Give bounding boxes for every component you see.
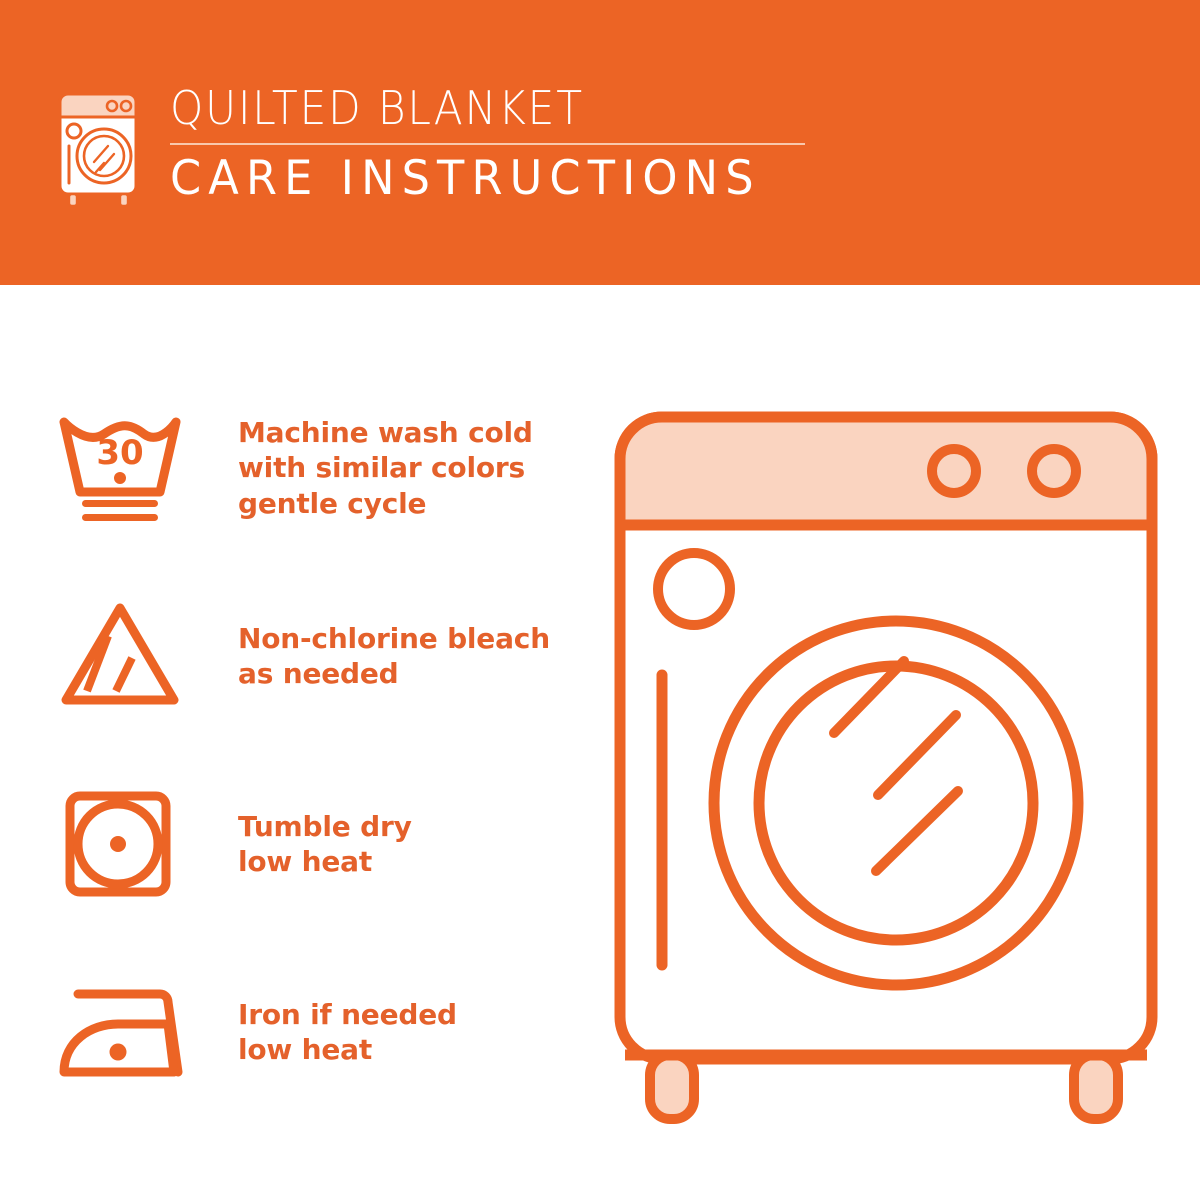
care-label-line: low heat (238, 1032, 457, 1067)
leg-right (1074, 1055, 1118, 1119)
iron-low-heat-icon (56, 972, 196, 1092)
knob-left (932, 449, 976, 493)
care-label-iron: Iron if needed low heat (238, 997, 457, 1068)
care-row-iron: Iron if needed low heat (56, 967, 576, 1097)
content-area: 30 Machine wash cold with similar colors… (0, 285, 1200, 1200)
washing-machine-illustration (606, 403, 1166, 1133)
care-label-line: Tumble dry (238, 809, 412, 844)
care-label-line: Machine wash cold (238, 415, 533, 450)
care-label-line: as needed (238, 656, 550, 691)
wash-temperature-value: 30 (96, 433, 143, 473)
header-title-block: QUILTED BLANKET CARE INSTRUCTIONS (170, 84, 805, 204)
latch-button (658, 553, 730, 625)
care-row-tumble-dry: Tumble dry low heat (56, 779, 576, 909)
care-row-wash: 30 Machine wash cold with similar colors… (56, 403, 576, 533)
header-banner: QUILTED BLANKET CARE INSTRUCTIONS (0, 0, 1200, 285)
care-label-line: low heat (238, 844, 412, 879)
care-label-bleach: Non-chlorine bleach as needed (238, 621, 550, 692)
page-title: QUILTED BLANKET (170, 84, 754, 132)
care-instruction-list: 30 Machine wash cold with similar colors… (56, 403, 576, 1097)
leg-left (650, 1055, 694, 1119)
washing-machine-icon (52, 78, 148, 210)
care-label-tumble-dry: Tumble dry low heat (238, 809, 412, 880)
knob-right (1032, 449, 1076, 493)
care-label-line: Iron if needed (238, 997, 457, 1032)
care-row-bleach: Non-chlorine bleach as needed (56, 591, 576, 721)
header-content: QUILTED BLANKET CARE INSTRUCTIONS (52, 78, 805, 210)
care-label-line: gentle cycle (238, 486, 533, 521)
wash-tub-30-gentle-icon: 30 (56, 408, 196, 528)
non-chlorine-bleach-triangle-icon (56, 596, 196, 716)
page-subtitle: CARE INSTRUCTIONS (170, 154, 773, 203)
title-divider (170, 143, 805, 145)
tumble-dry-low-heat-icon (56, 784, 196, 904)
door-drum-inner (759, 666, 1033, 940)
care-label-line: Non-chlorine bleach (238, 621, 550, 656)
care-label-wash: Machine wash cold with similar colors ge… (238, 415, 533, 521)
care-label-line: with similar colors (238, 450, 533, 485)
